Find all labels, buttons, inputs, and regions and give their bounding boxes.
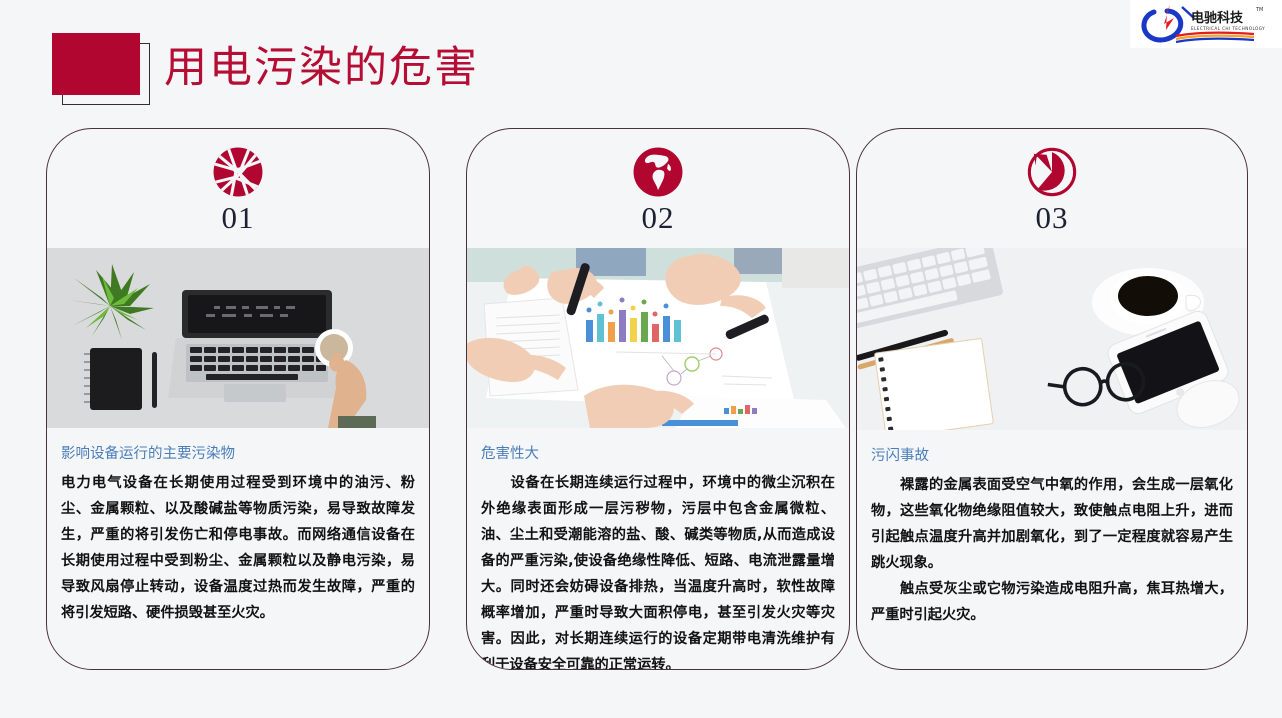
office-desk-photo [857, 248, 1247, 430]
card-02[interactable]: 02 [466, 128, 850, 670]
cards-container: 01 [0, 128, 1282, 678]
pie-arrow-icon [1023, 143, 1081, 201]
card-02-body: 危害性大 设备在长期连续运行过程中，环境中的微尘沉积在外绝缘表面形成一层污秽物，… [467, 428, 849, 670]
card-01-subtitle: 影响设备运行的主要污染物 [61, 444, 415, 464]
company-logo: 电驰科技 ELECTRICAL CHI TECHNOLOGY TM [1130, 0, 1282, 48]
page-title: 用电污染的危害 [164, 31, 479, 105]
card-02-number: 02 [467, 201, 849, 235]
card-03-paragraph-2: 触点受灰尘或它物污染造成电阻升高，焦耳热增大，严重时引起火灾。 [871, 576, 1233, 628]
card-02-head: 02 [467, 143, 849, 248]
card-01-paragraph: 电力电气设备在长期使用过程受到环境中的油污、粉尘、金属颗粒、以及酸碱盐等物质污染… [61, 470, 415, 626]
card-03-subtitle: 污闪事故 [871, 446, 1233, 466]
card-03-body: 污闪事故 裸露的金属表面受空气中氧的作用，会生成一层氧化物，这些氧化物绝缘阻值较… [857, 430, 1247, 628]
card-03-paragraph-1: 裸露的金属表面受空气中氧的作用，会生成一层氧化物，这些氧化物绝缘阻值较大，致使触… [871, 472, 1233, 576]
logo-mark: 电驰科技 ELECTRICAL CHI TECHNOLOGY TM [1136, 2, 1276, 46]
team-charts-photo [467, 248, 849, 428]
card-03-head: 03 [857, 143, 1247, 248]
svg-text:TM: TM [1255, 7, 1263, 13]
card-03[interactable]: 03 [856, 128, 1248, 670]
cracked-sphere-icon [209, 143, 267, 201]
svg-text:ELECTRICAL CHI TECHNOLOGY: ELECTRICAL CHI TECHNOLOGY [1191, 26, 1265, 31]
card-01[interactable]: 01 [46, 128, 430, 670]
card-01-body: 影响设备运行的主要污染物 电力电气设备在长期使用过程受到环境中的油污、粉尘、金属… [47, 428, 429, 626]
title-accent-square [52, 33, 140, 95]
card-02-paragraph: 设备在长期连续运行过程中，环境中的微尘沉积在外绝缘表面形成一层污秽物，污层中包含… [481, 470, 835, 670]
page-title-block: 用电污染的危害 [52, 33, 472, 115]
card-01-head: 01 [47, 143, 429, 248]
svg-text:电驰科技: 电驰科技 [1191, 10, 1244, 26]
globe-icon [629, 143, 687, 201]
laptop-desk-photo [47, 248, 429, 428]
card-01-number: 01 [47, 201, 429, 235]
card-02-subtitle: 危害性大 [481, 444, 835, 464]
slide-root: 电驰科技 ELECTRICAL CHI TECHNOLOGY TM 用电污染的危… [0, 0, 1282, 718]
card-03-number: 03 [857, 201, 1247, 235]
